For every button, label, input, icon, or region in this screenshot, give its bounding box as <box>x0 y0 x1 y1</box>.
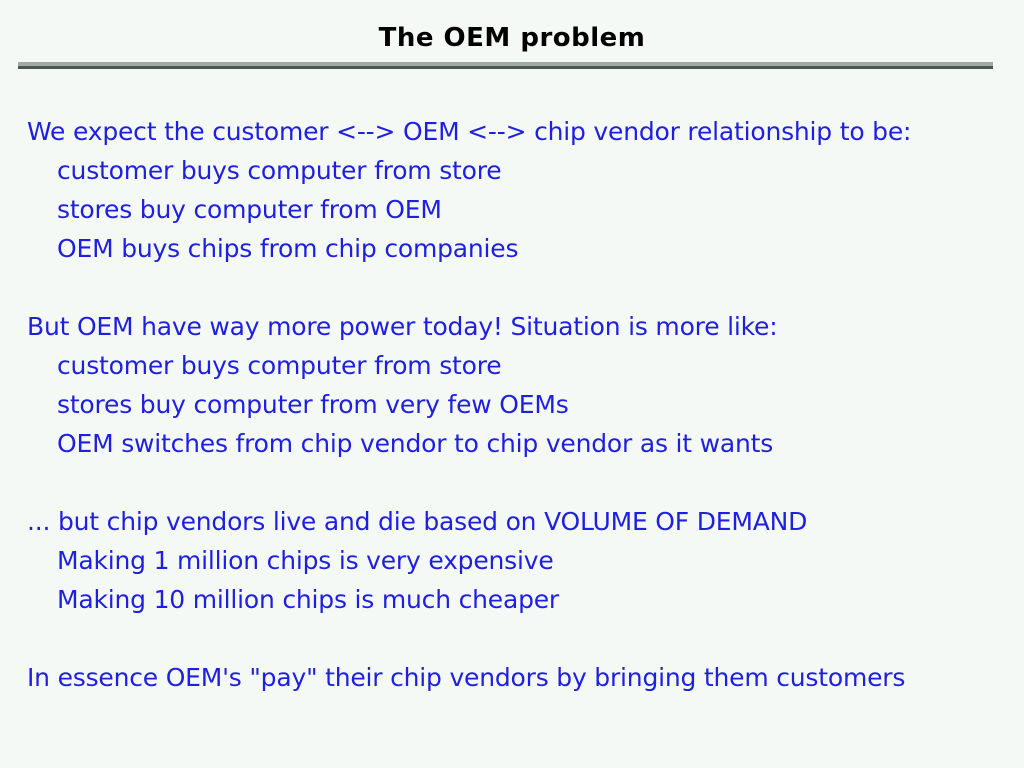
content-block-volume-of-demand: ... but chip vendors live and die based … <box>0 502 1024 619</box>
bullet-line: stores buy computer from OEM <box>0 190 1024 229</box>
content-block-actual-situation: But OEM have way more power today! Situa… <box>0 307 1024 463</box>
divider-dark-band <box>18 66 993 69</box>
bullet-line: customer buys computer from store <box>0 151 1024 190</box>
bullet-line: customer buys computer from store <box>0 346 1024 385</box>
content-block-expected-relationship: We expect the customer <--> OEM <--> chi… <box>0 112 1024 268</box>
bullet-line: OEM buys chips from chip companies <box>0 229 1024 268</box>
presentation-slide: The OEM problem We expect the customer <… <box>0 0 1024 768</box>
bullet-line: ... but chip vendors live and die based … <box>0 502 1024 541</box>
slide-title: The OEM problem <box>0 22 1024 54</box>
bullet-line: stores buy computer from very few OEMs <box>0 385 1024 424</box>
slide-body: We expect the customer <--> OEM <--> chi… <box>0 112 1024 697</box>
bullet-line: But OEM have way more power today! Situa… <box>0 307 1024 346</box>
content-block-conclusion: In essence OEM's "pay" their chip vendor… <box>0 658 1024 697</box>
bullet-line: Making 10 million chips is much cheaper <box>0 580 1024 619</box>
bullet-line: OEM switches from chip vendor to chip ve… <box>0 424 1024 463</box>
bullet-line: We expect the customer <--> OEM <--> chi… <box>0 112 1024 151</box>
bullet-line: In essence OEM's "pay" their chip vendor… <box>0 658 1024 697</box>
title-divider-rule <box>18 62 993 69</box>
bullet-line: Making 1 million chips is very expensive <box>0 541 1024 580</box>
